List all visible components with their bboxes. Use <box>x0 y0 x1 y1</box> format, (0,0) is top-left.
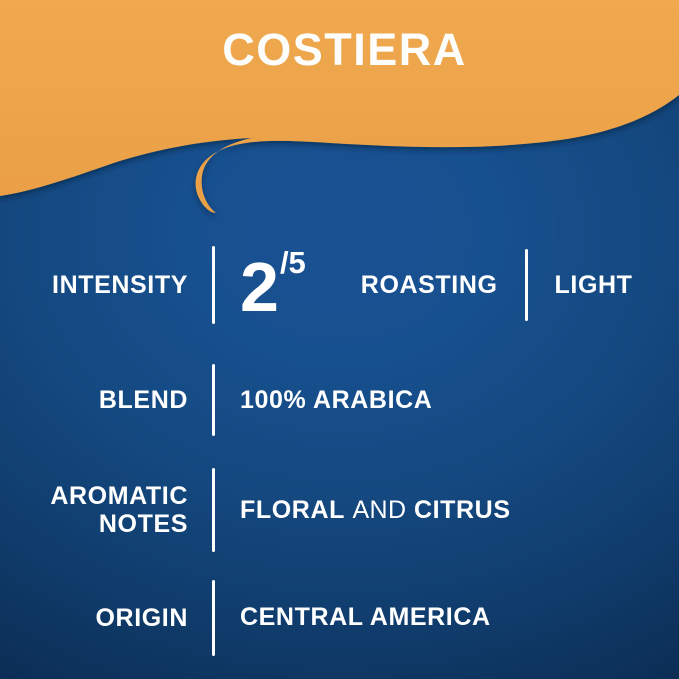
spec-label-aromatic-notes: AROMATIC NOTES <box>0 482 212 538</box>
spec-value-intensity: 2/5 ROASTING LIGHT <box>215 249 633 321</box>
intensity-number: 2 <box>240 256 279 319</box>
spec-value-aromatic-notes: FLORALANDCITRUS <box>215 496 511 525</box>
spec-label-origin: ORIGIN <box>0 604 212 632</box>
spec-label-aromatic-notes-line2: NOTES <box>0 510 188 538</box>
spec-list: INTENSITY 2/5 ROASTING LIGHT BLEND 100% … <box>0 225 679 670</box>
spec-row-aromatic-notes: AROMATIC NOTES FLORALANDCITRUS <box>0 455 679 565</box>
aroma-note-primary: FLORAL <box>240 496 345 525</box>
spec-label-aromatic-notes-line1: AROMATIC <box>0 482 188 510</box>
divider-roasting <box>525 249 528 321</box>
spec-label-intensity: INTENSITY <box>0 271 212 299</box>
aroma-conjunction: AND <box>352 496 406 525</box>
product-spec-card: COSTIERA INTENSITY 2/5 ROASTING LIGHT BL… <box>0 0 679 679</box>
aroma-note-secondary: CITRUS <box>414 496 511 525</box>
spec-row-blend: BLEND 100% ARABICA <box>0 345 679 455</box>
spec-label-blend: BLEND <box>0 386 212 414</box>
spec-row-origin: ORIGIN CENTRAL AMERICA <box>0 565 679 670</box>
spec-value-origin: CENTRAL AMERICA <box>215 603 491 632</box>
page-title: COSTIERA <box>0 27 679 72</box>
spec-row-intensity: INTENSITY 2/5 ROASTING LIGHT <box>0 225 679 345</box>
intensity-fraction: /5 <box>280 245 306 281</box>
spec-label-roasting: ROASTING <box>361 271 498 300</box>
spec-value-roasting: LIGHT <box>555 271 633 300</box>
spec-value-blend: 100% ARABICA <box>215 386 432 415</box>
